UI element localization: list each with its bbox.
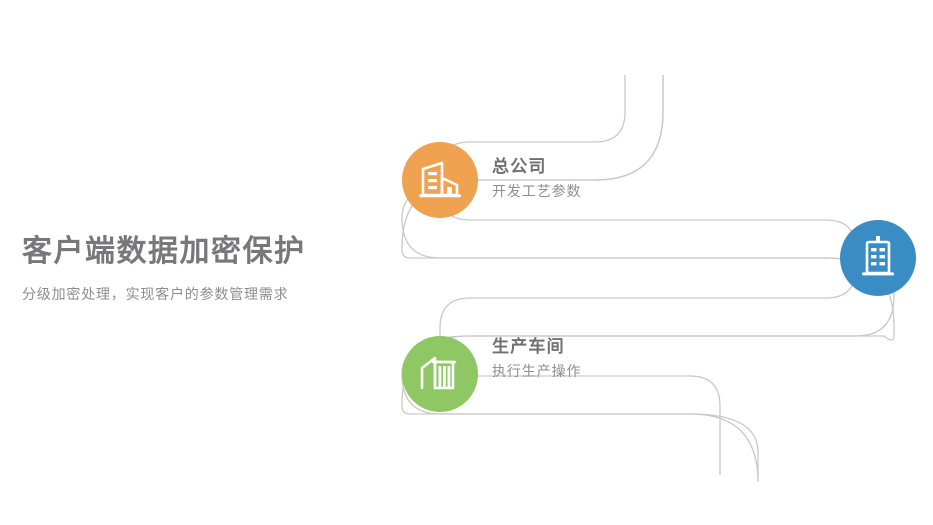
ribbon-outer-path xyxy=(440,75,856,475)
headquarters-node-subtitle: 开发工艺参数 xyxy=(492,181,581,201)
workshop-node-title: 生产车间 xyxy=(492,336,581,359)
subsidiary-node-circle[interactable] xyxy=(840,220,916,296)
headquarters-node-circle[interactable] xyxy=(402,142,478,218)
slide-canvas: 客户端数据加密保护 分级加密处理，实现客户的参数管理需求 xyxy=(0,0,933,525)
company-building-icon xyxy=(840,220,916,296)
workshop-node-circle[interactable] xyxy=(402,336,478,412)
page-title: 客户端数据加密保护 xyxy=(22,234,382,270)
office-building-icon xyxy=(402,142,478,218)
ribbon-band-path xyxy=(402,75,894,475)
page-subtitle: 分级加密处理，实现客户的参数管理需求 xyxy=(22,284,382,304)
headline-block: 客户端数据加密保护 分级加密处理，实现客户的参数管理需求 xyxy=(22,234,382,304)
headquarters-node-text: 总公司 开发工艺参数 xyxy=(492,156,581,201)
ribbon-inner-path xyxy=(402,75,894,482)
factory-warehouse-icon xyxy=(402,336,478,412)
workshop-node-text: 生产车间 执行生产操作 xyxy=(492,336,581,381)
workshop-node-subtitle: 执行生产操作 xyxy=(492,361,581,381)
headquarters-node-title: 总公司 xyxy=(492,156,581,179)
